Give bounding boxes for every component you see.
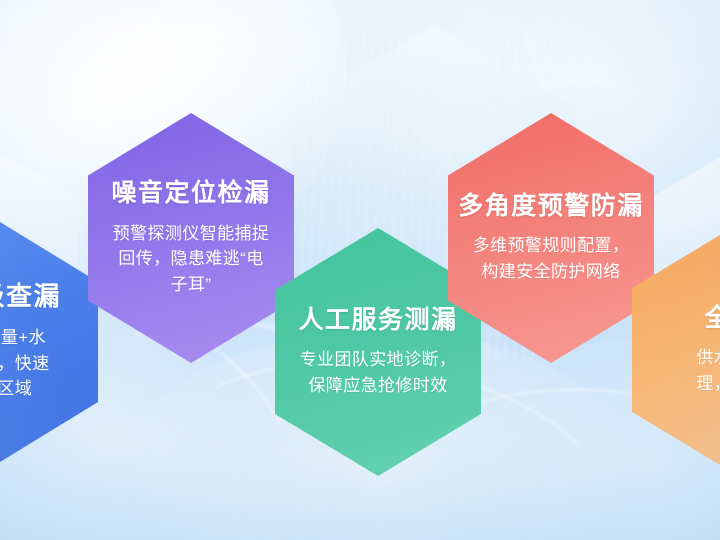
hexagon-title-orange: 全流 bbox=[704, 304, 720, 333]
hexagon-body-blue: 区计量+水 仿真，快速 疑区域 bbox=[0, 325, 50, 402]
hexagon-body-red: 多维预警规则配置，构建安全防护网络 bbox=[471, 233, 632, 284]
hexagon-body-purple: 预警探测仪智能捕捉回传，隐患难逃“电子耳” bbox=[111, 221, 272, 298]
hexagon-body-orange: 供水管网 理，漏损 bbox=[696, 345, 720, 396]
hexagon-title-red: 多角度预警防漏 bbox=[458, 192, 644, 221]
hexagon-card-purple[interactable]: 噪音定位检漏 预警探测仪智能捕捉回传，隐患难逃“电子耳” bbox=[88, 113, 294, 363]
hexagon-card-blue[interactable]: 多级查漏 区计量+水 仿真，快速 疑区域 bbox=[0, 222, 98, 462]
hexagon-content-red: 多角度预警防漏 多维预警规则配置，构建安全防护网络 bbox=[471, 192, 632, 285]
hexagon-title-purple: 噪音定位检漏 bbox=[111, 179, 270, 208]
hexagon-title-green: 人工服务测漏 bbox=[298, 306, 457, 335]
hexagon-content-purple: 噪音定位检漏 预警探测仪智能捕捉回传，隐患难逃“电子耳” bbox=[111, 179, 272, 297]
hexagon-body-green: 专业团队实地诊断，保障应急抢修时效 bbox=[298, 347, 459, 398]
hexagon-content-green: 人工服务测漏 专业团队实地诊断，保障应急抢修时效 bbox=[298, 306, 459, 399]
hexagon-content-orange: 全流 供水管网 理，漏损 bbox=[636, 304, 720, 397]
hexagon-content-blue: 多级查漏 区计量+水 仿真，快速 疑区域 bbox=[0, 282, 96, 401]
infographic-canvas: 多级查漏 区计量+水 仿真，快速 疑区域 噪音定位检漏 预警探测仪智能捕捉回传，… bbox=[0, 0, 720, 540]
hexagon-title-blue: 多级查漏 bbox=[0, 282, 61, 312]
